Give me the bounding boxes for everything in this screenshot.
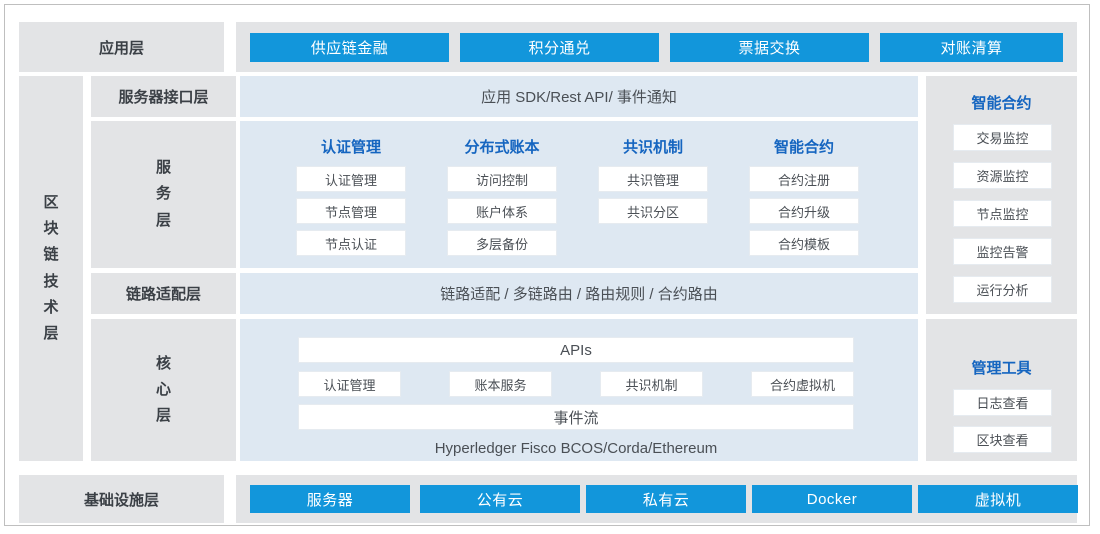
core-module-auth[interactable]: 认证管理 bbox=[298, 371, 401, 397]
infra-item-private-cloud[interactable]: 私有云 bbox=[586, 485, 746, 513]
service-chip-contract-1[interactable]: 合约注册 bbox=[749, 166, 859, 192]
side-panel-smart-contract-head: 智能合约 bbox=[926, 92, 1077, 113]
app-item-reconciliation-settlement[interactable]: 对账清算 bbox=[880, 33, 1063, 62]
vlabel-char: 服 bbox=[156, 155, 171, 181]
service-col-head-ledger: 分布式账本 bbox=[447, 136, 557, 157]
service-chip-ledger-3[interactable]: 多层备份 bbox=[447, 230, 557, 256]
infra-item-docker[interactable]: Docker bbox=[752, 485, 912, 513]
side-panel-item-transaction-monitor[interactable]: 交易监控 bbox=[953, 124, 1052, 151]
vlabel-char: 链 bbox=[43, 242, 58, 268]
side-panel-management-tools-head: 管理工具 bbox=[926, 357, 1077, 378]
link-adaptation-layer-band: 链路适配 / 多链路由 / 路由规则 / 合约路由 bbox=[240, 273, 918, 314]
service-chip-ledger-1[interactable]: 访问控制 bbox=[447, 166, 557, 192]
side-panel-item-monitor-alert[interactable]: 监控告警 bbox=[953, 238, 1052, 265]
vlabel-char: 术 bbox=[43, 295, 58, 321]
core-layer-label: 核 心 层 bbox=[91, 319, 236, 461]
app-item-bill-exchange[interactable]: 票据交换 bbox=[670, 33, 869, 62]
app-item-supply-chain-finance[interactable]: 供应链金融 bbox=[250, 33, 449, 62]
side-panel-item-node-monitor[interactable]: 节点监控 bbox=[953, 200, 1052, 227]
core-event-stream-bar[interactable]: 事件流 bbox=[298, 404, 854, 430]
blockchain-tech-layer-label: 区 块 链 技 术 层 bbox=[19, 76, 83, 461]
service-chip-auth-2[interactable]: 节点管理 bbox=[296, 198, 406, 224]
server-interface-layer-band: 应用 SDK/Rest API/ 事件通知 bbox=[240, 76, 918, 117]
architecture-diagram: 应用层 供应链金融 积分通兑 票据交换 对账清算 区 块 链 技 术 层 服务器… bbox=[4, 4, 1090, 526]
vlabel-char: 技 bbox=[43, 269, 58, 295]
side-panel-item-block-view[interactable]: 区块查看 bbox=[953, 426, 1052, 453]
service-chip-consensus-1[interactable]: 共识管理 bbox=[598, 166, 708, 192]
vlabel-char: 区 bbox=[43, 190, 58, 216]
vlabel-char: 层 bbox=[156, 403, 171, 429]
app-item-points-exchange[interactable]: 积分通兑 bbox=[460, 33, 659, 62]
infrastructure-layer-label: 基础设施层 bbox=[19, 475, 224, 523]
service-chip-auth-3[interactable]: 节点认证 bbox=[296, 230, 406, 256]
vlabel-char: 层 bbox=[156, 208, 171, 234]
side-panel-item-runtime-analysis[interactable]: 运行分析 bbox=[953, 276, 1052, 303]
vlabel-char: 层 bbox=[43, 321, 58, 347]
core-module-contract-vm[interactable]: 合约虚拟机 bbox=[751, 371, 854, 397]
core-module-ledger-service[interactable]: 账本服务 bbox=[449, 371, 552, 397]
core-layer-footer-text: Hyperledger Fisco BCOS/Corda/Ethereum bbox=[298, 437, 854, 459]
side-panel-item-resource-monitor[interactable]: 资源监控 bbox=[953, 162, 1052, 189]
vlabel-char: 核 bbox=[156, 351, 171, 377]
core-module-consensus[interactable]: 共识机制 bbox=[600, 371, 703, 397]
service-col-head-consensus: 共识机制 bbox=[598, 136, 708, 157]
vlabel-char: 务 bbox=[156, 181, 171, 207]
application-layer-label: 应用层 bbox=[19, 22, 224, 72]
vlabel-char: 块 bbox=[43, 216, 58, 242]
service-layer-label: 服 务 层 bbox=[91, 121, 236, 268]
service-chip-contract-3[interactable]: 合约模板 bbox=[749, 230, 859, 256]
service-chip-consensus-2[interactable]: 共识分区 bbox=[598, 198, 708, 224]
infra-item-public-cloud[interactable]: 公有云 bbox=[420, 485, 580, 513]
service-col-head-smart-contract: 智能合约 bbox=[749, 136, 859, 157]
service-chip-auth-1[interactable]: 认证管理 bbox=[296, 166, 406, 192]
server-interface-layer-label: 服务器接口层 bbox=[91, 76, 236, 117]
side-panel-item-log-view[interactable]: 日志查看 bbox=[953, 389, 1052, 416]
service-chip-contract-2[interactable]: 合约升级 bbox=[749, 198, 859, 224]
service-chip-ledger-2[interactable]: 账户体系 bbox=[447, 198, 557, 224]
service-col-head-auth: 认证管理 bbox=[296, 136, 406, 157]
link-adaptation-layer-label: 链路适配层 bbox=[91, 273, 236, 314]
core-apis-bar[interactable]: APIs bbox=[298, 337, 854, 363]
infra-item-virtual-machine[interactable]: 虚拟机 bbox=[918, 485, 1078, 513]
infra-item-server[interactable]: 服务器 bbox=[250, 485, 410, 513]
vlabel-char: 心 bbox=[156, 377, 171, 403]
